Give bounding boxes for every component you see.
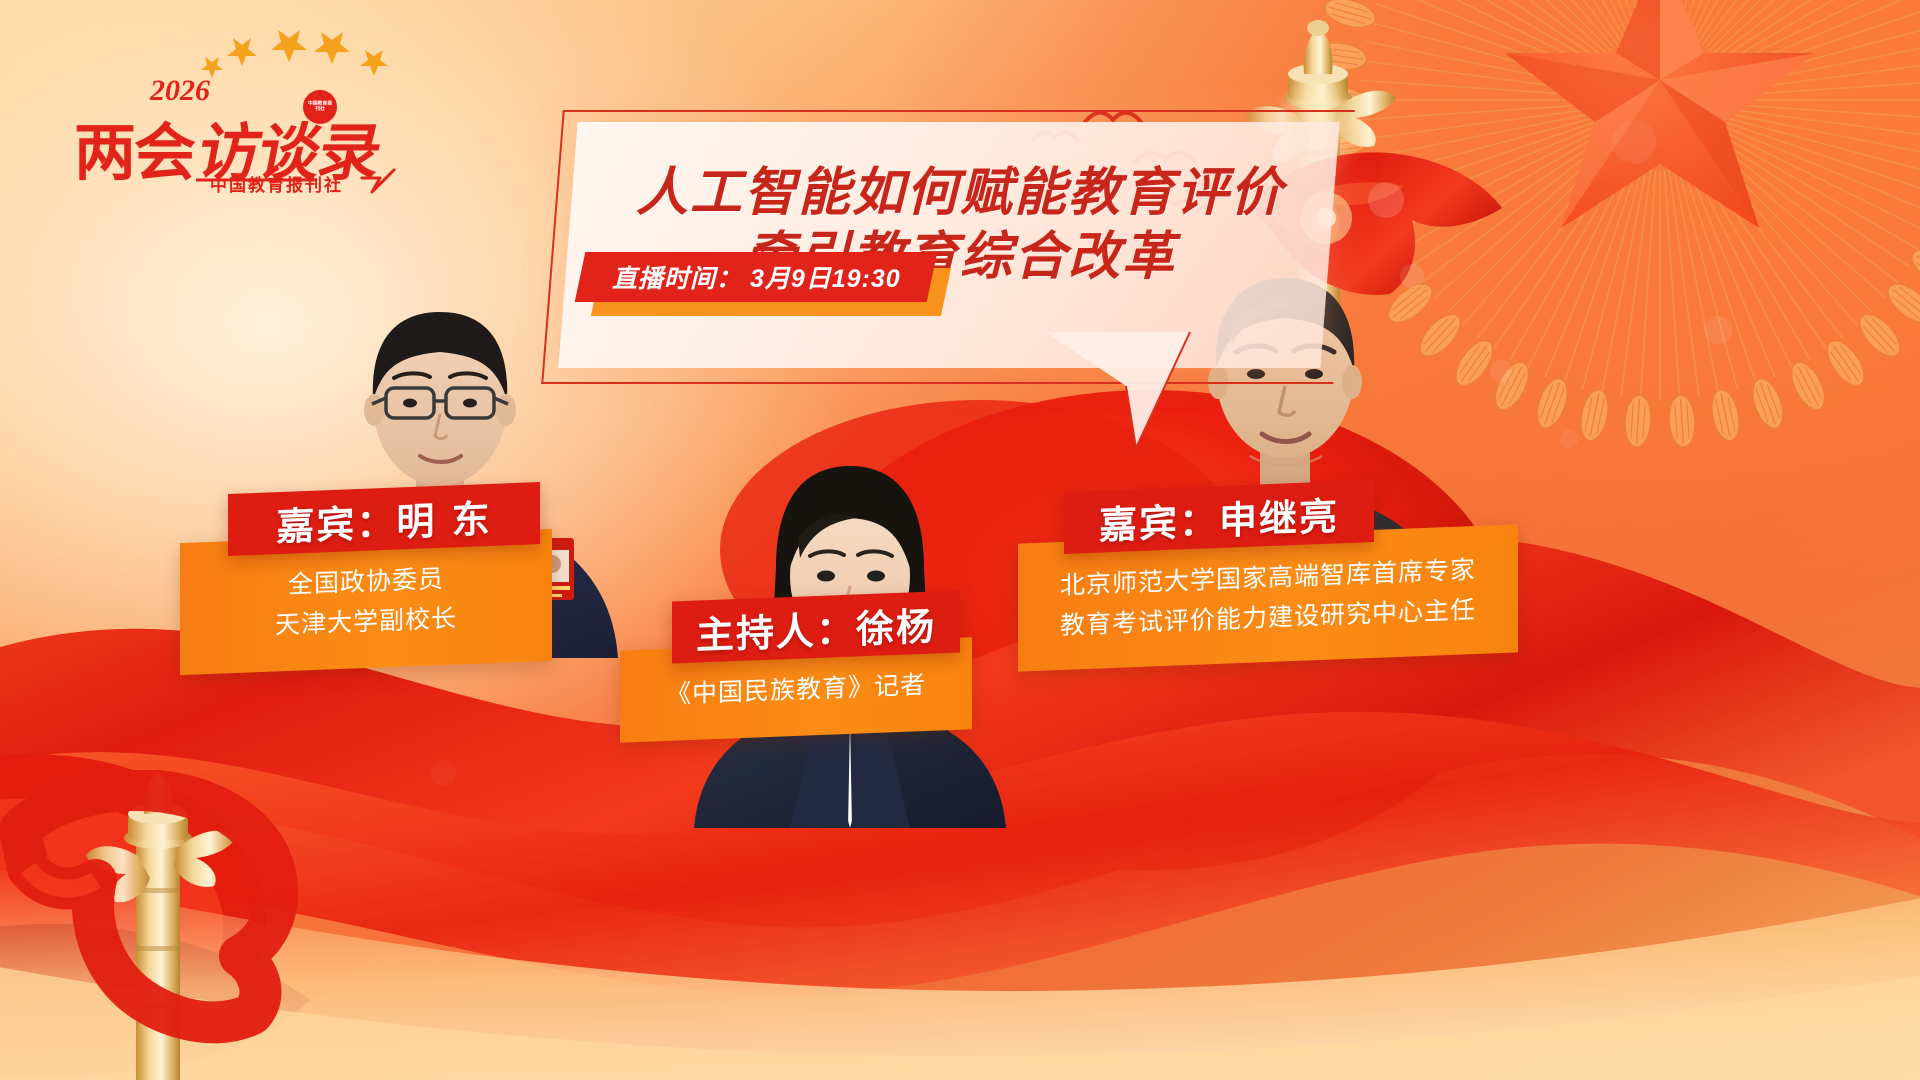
guest-1-name: 嘉宾：明 东 — [276, 487, 491, 550]
broadcast-time-text: 直播时间： 3月9日19:30 — [612, 259, 901, 295]
broadcast-poster: 人工智能如何赋能教育评价 牵引教育综合改革 直播时间： 3月9日19:30 20… — [0, 0, 1920, 1080]
host-affiliation-line-1: 《中国民族教育》记者 — [666, 665, 926, 715]
guest-1-affiliation-line-2: 天津大学副校长 — [275, 599, 457, 646]
logo-frame-icon — [150, 36, 410, 188]
light-bokeh-circle — [430, 760, 456, 786]
title-line-2: 牵引教育综合改革 — [0, 214, 1920, 289]
host-name: 主持人：徐杨 — [696, 595, 936, 659]
guest-2-name: 嘉宾：申继亮 — [1099, 485, 1339, 549]
guest-2-name-plate: 嘉宾：申继亮 — [1064, 480, 1374, 554]
guest-1-affiliation-line-1: 全国政协委员 — [288, 559, 444, 605]
speech-bubble-tail — [1040, 330, 1220, 450]
host-name-plate: 主持人：徐杨 — [672, 590, 960, 663]
program-logo: 2026 中国教育报刊社 两会访谈录 中国教育报刊社 — [70, 28, 400, 188]
huabiao-column-icon — [78, 770, 238, 1080]
broadcast-time-chip: 直播时间： 3月9日19:30 — [575, 252, 938, 302]
guest-1-name-plate: 嘉宾：明 东 — [228, 482, 540, 556]
